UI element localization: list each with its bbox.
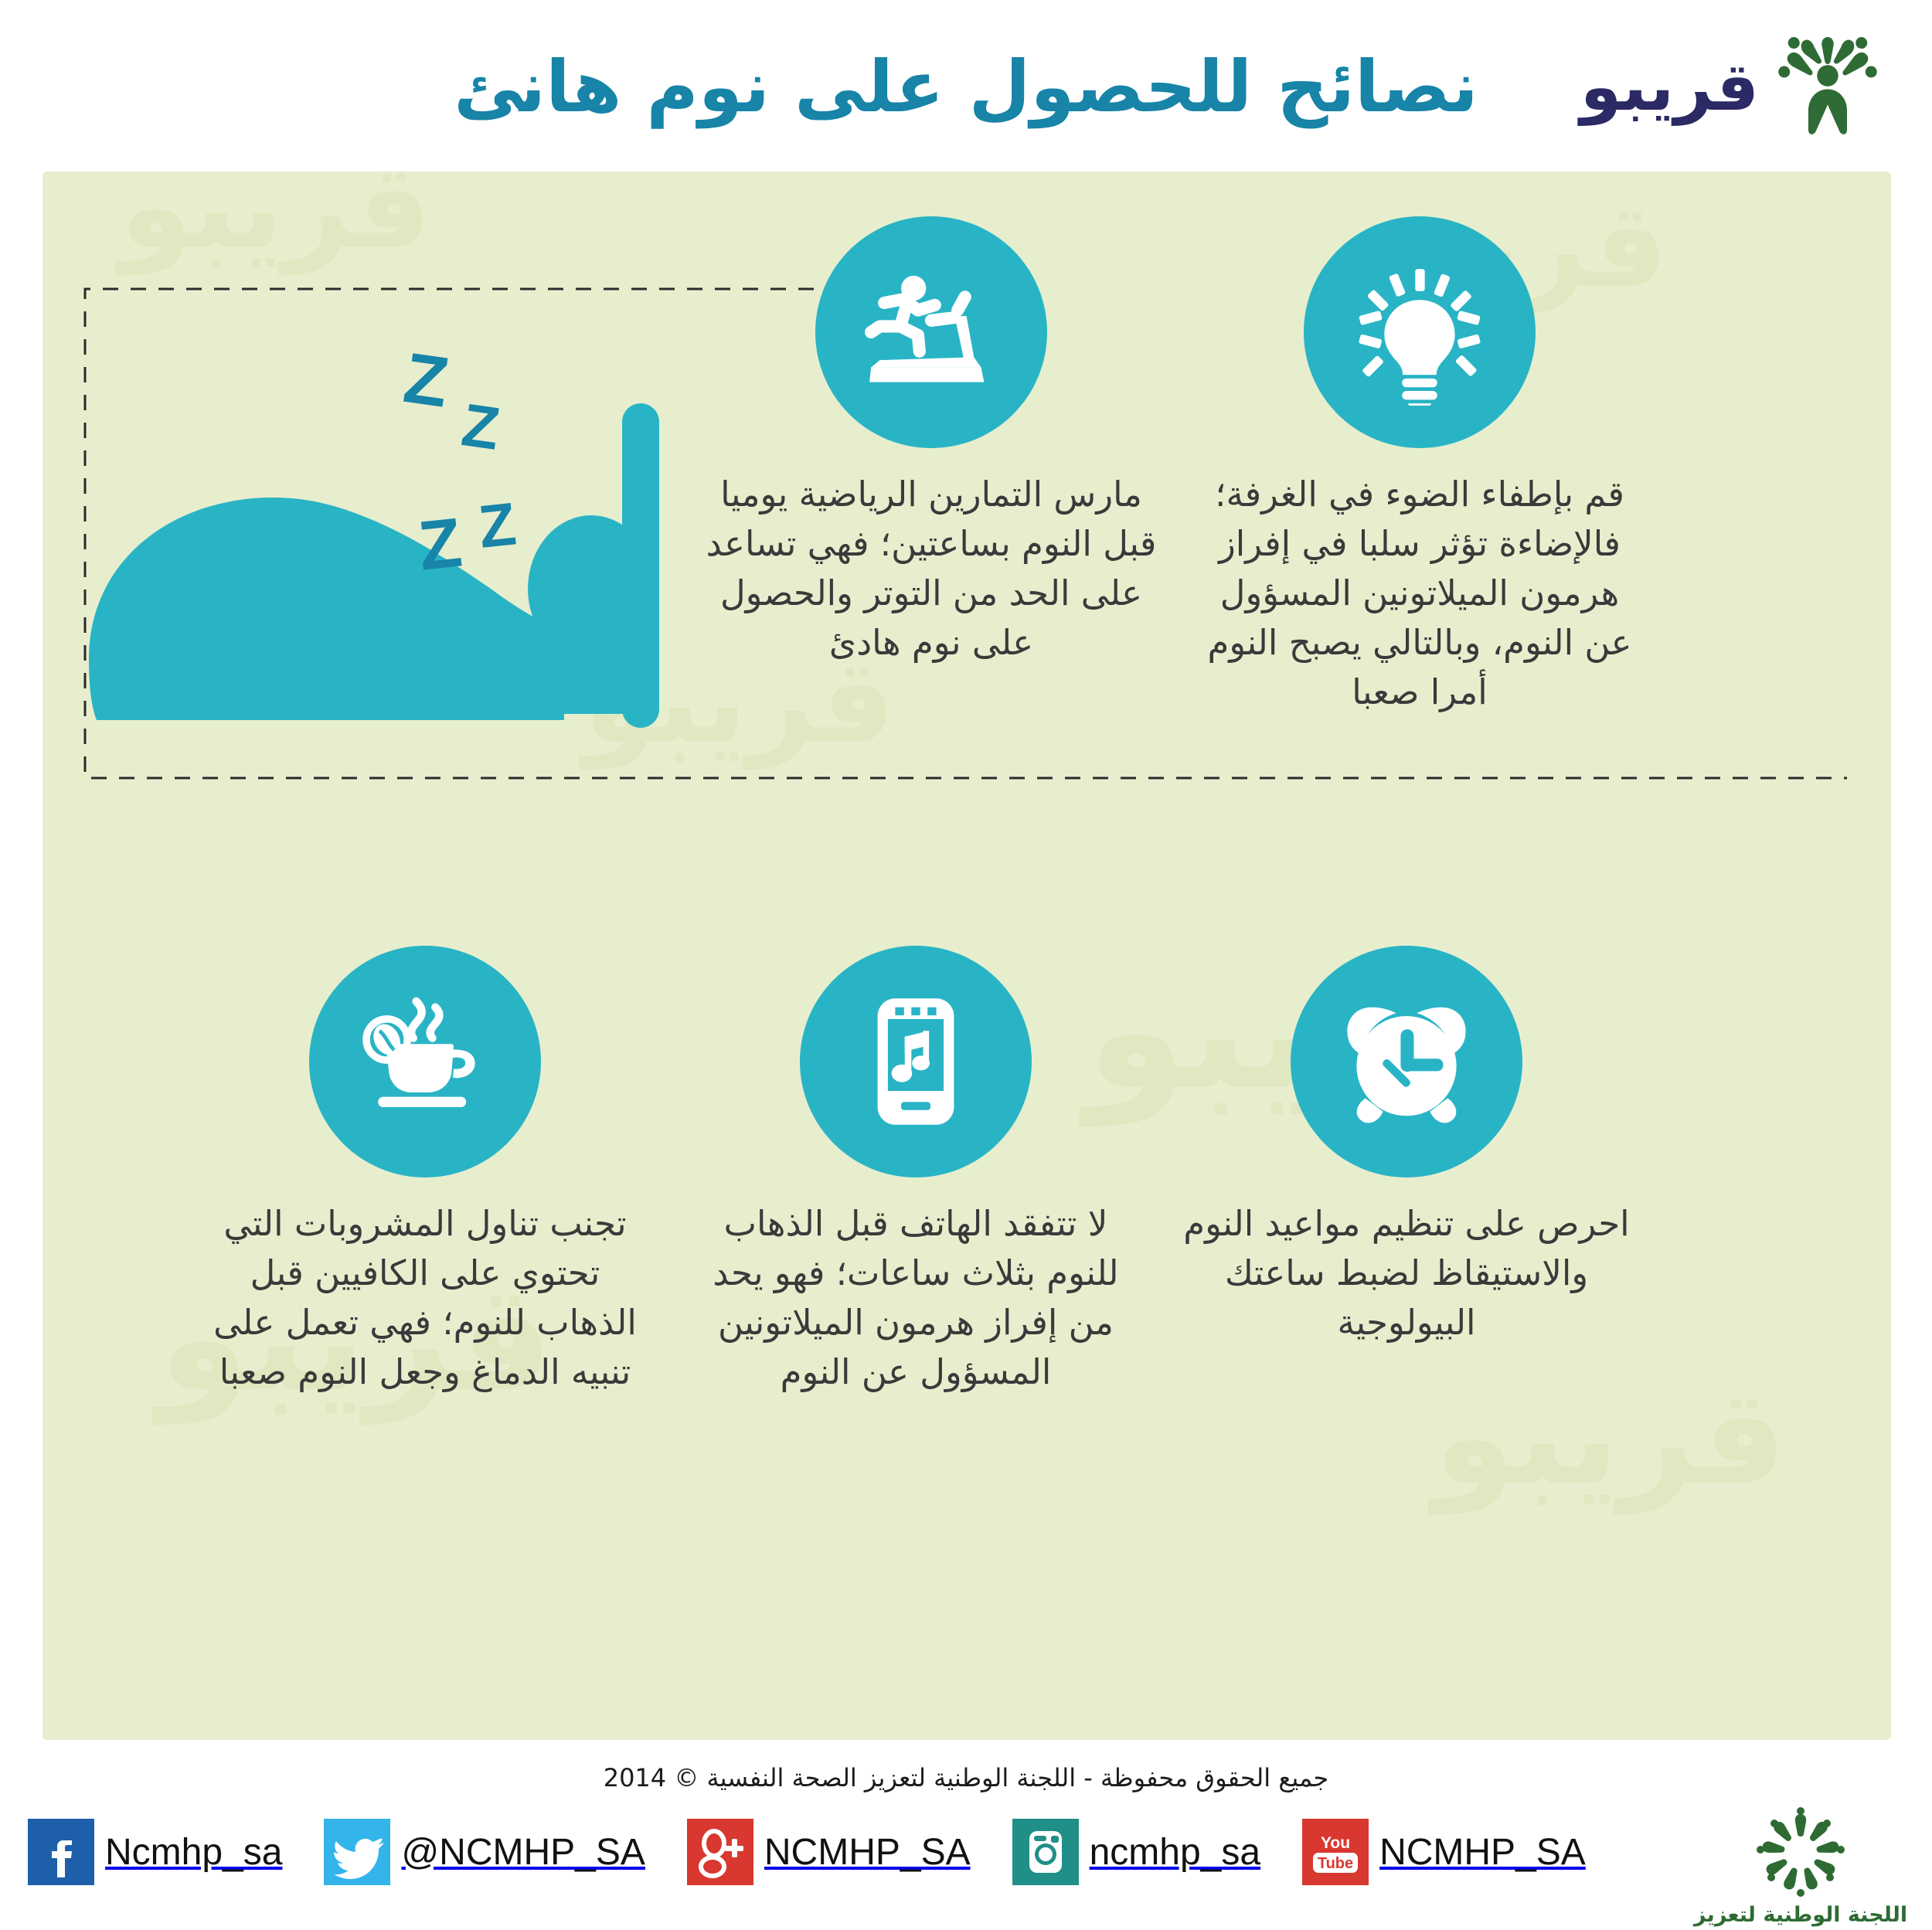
coffee-cup-icon (352, 988, 498, 1135)
svg-text:Tube: Tube (1318, 1855, 1353, 1872)
tip-card-light: قم بإطفاء الضوء في الغرفة؛ فالإضاءة تؤثر… (1180, 216, 1659, 716)
twitter-icon (324, 1819, 390, 1885)
alarm-clock-icon (1333, 988, 1480, 1135)
tip-text: احرص على تنظيم مواعيد النوم والاستيقاظ ل… (1167, 1199, 1646, 1347)
social-link-googleplus[interactable]: NCMHP_SA (687, 1819, 971, 1885)
brand-name: قريبو (1580, 54, 1759, 121)
tip-text: تجنب تناول المشروبات التي تحتوي على الكا… (185, 1199, 665, 1397)
svg-text:Z: Z (415, 504, 465, 585)
svg-text:Z: Z (457, 390, 503, 463)
tip-card-exercise: مارس التمارين الرياضية يوميا قبل النوم ب… (692, 216, 1171, 668)
social-handle: ncmhp_sa (1090, 1831, 1260, 1874)
svg-text:Z: Z (475, 489, 519, 560)
tip-icon-circle (1291, 946, 1522, 1177)
tip-card-caffeine: تجنب تناول المشروبات التي تحتوي على الكا… (185, 946, 665, 1397)
smartphone-music-icon (842, 988, 989, 1135)
google-plus-icon (687, 1819, 753, 1885)
people-sprout-icon (1770, 29, 1886, 145)
social-link-facebook[interactable]: Ncmhp_sa (28, 1819, 282, 1885)
youtube-icon: You Tube (1302, 1819, 1369, 1885)
ncmhp-org-logo: اللجنة الوطنية لتعزيز الصحة النفسية (1689, 1806, 1913, 1930)
social-link-youtube[interactable]: You Tube NCMHP_SA (1302, 1819, 1586, 1885)
brand-logo: قريبو (1561, 29, 1886, 145)
sleeping-person-illustration: Z Z Z Z (81, 334, 692, 766)
social-handle: @NCMHP_SA (401, 1831, 645, 1874)
tip-card-phone: لا تتفقد الهاتف قبل الذهاب للنوم بثلاث س… (676, 946, 1155, 1397)
facebook-icon (28, 1819, 94, 1885)
tip-text: لا تتفقد الهاتف قبل الذهاب للنوم بثلاث س… (676, 1199, 1155, 1397)
svg-text:Z: Z (400, 338, 454, 423)
infographic-page: نصائح للحصول على نوم هانئ (0, 0, 1932, 1930)
tip-text: قم بإطفاء الضوء في الغرفة؛ فالإضاءة تؤثر… (1180, 470, 1659, 716)
social-handle: Ncmhp_sa (105, 1831, 282, 1874)
tip-icon-circle (309, 946, 541, 1177)
tips-panel: قريبو قريبو قريبو قريبو قريبو قريبو (43, 172, 1891, 1740)
tip-icon-circle (815, 216, 1047, 448)
social-handle: NCMHP_SA (1379, 1831, 1586, 1874)
social-link-twitter[interactable]: @NCMHP_SA (324, 1819, 645, 1885)
lightbulb-icon (1346, 259, 1493, 406)
tip-card-schedule: احرص على تنظيم مواعيد النوم والاستيقاظ ل… (1167, 946, 1646, 1347)
ncmhp-starburst-icon (1754, 1806, 1847, 1899)
footer: جميع الحقوق محفوظة - اللجنة الوطنية لتعز… (0, 1748, 1932, 1930)
social-links: Ncmhp_sa @NCMHP_SA (28, 1819, 1628, 1885)
tip-text: مارس التمارين الرياضية يوميا قبل النوم ب… (692, 470, 1171, 668)
copyright-text: جميع الحقوق محفوظة - اللجنة الوطنية لتعز… (0, 1763, 1932, 1792)
social-link-instagram[interactable]: ncmhp_sa (1012, 1819, 1260, 1885)
instagram-icon (1012, 1819, 1079, 1885)
social-handle: NCMHP_SA (764, 1831, 971, 1874)
ncmhp-org-name: اللجنة الوطنية لتعزيز الصحة النفسية (1689, 1902, 1913, 1930)
svg-text:You: You (1321, 1834, 1350, 1852)
page-title: نصائح للحصول على نوم هانئ (454, 46, 1478, 128)
tip-icon-circle (800, 946, 1032, 1177)
tip-icon-circle (1304, 216, 1536, 448)
treadmill-runner-icon (858, 259, 1005, 406)
